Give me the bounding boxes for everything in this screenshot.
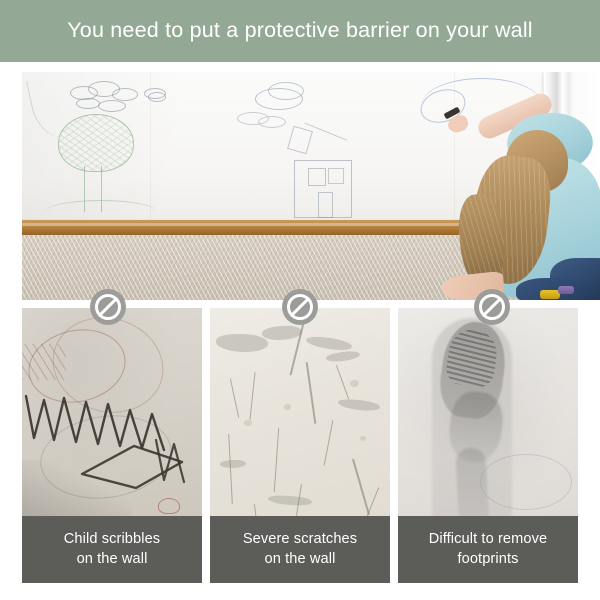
wall-blemish [350, 380, 359, 387]
page-title: You need to put a protective barrier on … [67, 20, 533, 42]
no-entry-circle [95, 294, 121, 320]
scratch-line [352, 459, 369, 515]
crayon-cloud [98, 100, 126, 112]
scribbled-wall-photo [22, 308, 202, 516]
wall-blemish [360, 436, 366, 441]
crayon-house-window [328, 168, 344, 184]
panel-caption-difficult-footprints: Difficult to removefootprints [398, 516, 578, 583]
wall-gouge [306, 335, 353, 352]
promotional-image: You need to put a protective barrier on … [0, 0, 600, 600]
problem-panels: Child scribbleson the wall [22, 308, 578, 583]
crayon-house-window [308, 168, 326, 186]
panel-photo-difficult-footprints [398, 308, 578, 516]
scratch-line [254, 504, 259, 516]
no-entry-slash [290, 297, 311, 318]
scratch-line [306, 362, 316, 424]
footprint-wall-photo [398, 308, 578, 516]
crayon-cloud [268, 82, 304, 100]
no-entry-slash [482, 297, 503, 318]
wall-gouge [268, 495, 312, 506]
crayon-house-door [318, 192, 333, 218]
red-crayon-mark [158, 498, 180, 514]
no-entry-circle [479, 294, 505, 320]
no-entry-icon [90, 289, 126, 325]
crayon-cloud [258, 116, 286, 128]
crayon-tree-canopy [58, 114, 134, 172]
wall-gouge [338, 398, 381, 412]
wall-gouge [216, 334, 268, 352]
scratch-line [249, 372, 255, 420]
panel-caption-child-scribbles: Child scribbleson the wall [22, 516, 202, 583]
scratch-line [230, 378, 239, 417]
toy-on-floor [540, 290, 560, 299]
wall-gouge [326, 349, 361, 363]
child-figure [390, 106, 600, 300]
photo-shadow [22, 460, 132, 516]
faint-ring-mark [480, 454, 572, 510]
scratch-line [336, 365, 349, 399]
no-entry-slash [98, 297, 119, 318]
scratch-line [324, 420, 334, 465]
caption-text: Difficult to removefootprints [429, 530, 547, 569]
scratched-wall-photo [210, 308, 390, 516]
wall-gouge [220, 459, 246, 469]
crayon-cloud [112, 88, 138, 101]
panel-photo-child-scribbles [22, 308, 202, 516]
panel-difficult-footprints: Difficult to removefootprints [398, 308, 578, 583]
no-entry-icon [474, 289, 510, 325]
no-entry-icon [282, 289, 318, 325]
panel-caption-severe-scratches: Severe scratcheson the wall [210, 516, 390, 583]
crayon-cloud [148, 92, 166, 102]
wall-blemish [284, 404, 291, 410]
hero-photo [22, 72, 600, 300]
panel-child-scribbles: Child scribbleson the wall [22, 308, 202, 583]
scratch-line [228, 434, 233, 504]
hero-scene [22, 72, 600, 300]
header-banner: You need to put a protective barrier on … [0, 0, 600, 62]
caption-text: Severe scratcheson the wall [243, 530, 357, 569]
no-entry-circle [287, 294, 313, 320]
caption-text: Child scribbleson the wall [64, 530, 160, 569]
wall-gouge [261, 324, 302, 342]
crayon-cloud [76, 98, 100, 109]
scratch-line [274, 428, 280, 492]
panel-photo-severe-scratches [210, 308, 390, 516]
panel-severe-scratches: Severe scratcheson the wall [210, 308, 390, 583]
wall-blemish [244, 420, 252, 426]
toy-on-floor [558, 286, 574, 294]
